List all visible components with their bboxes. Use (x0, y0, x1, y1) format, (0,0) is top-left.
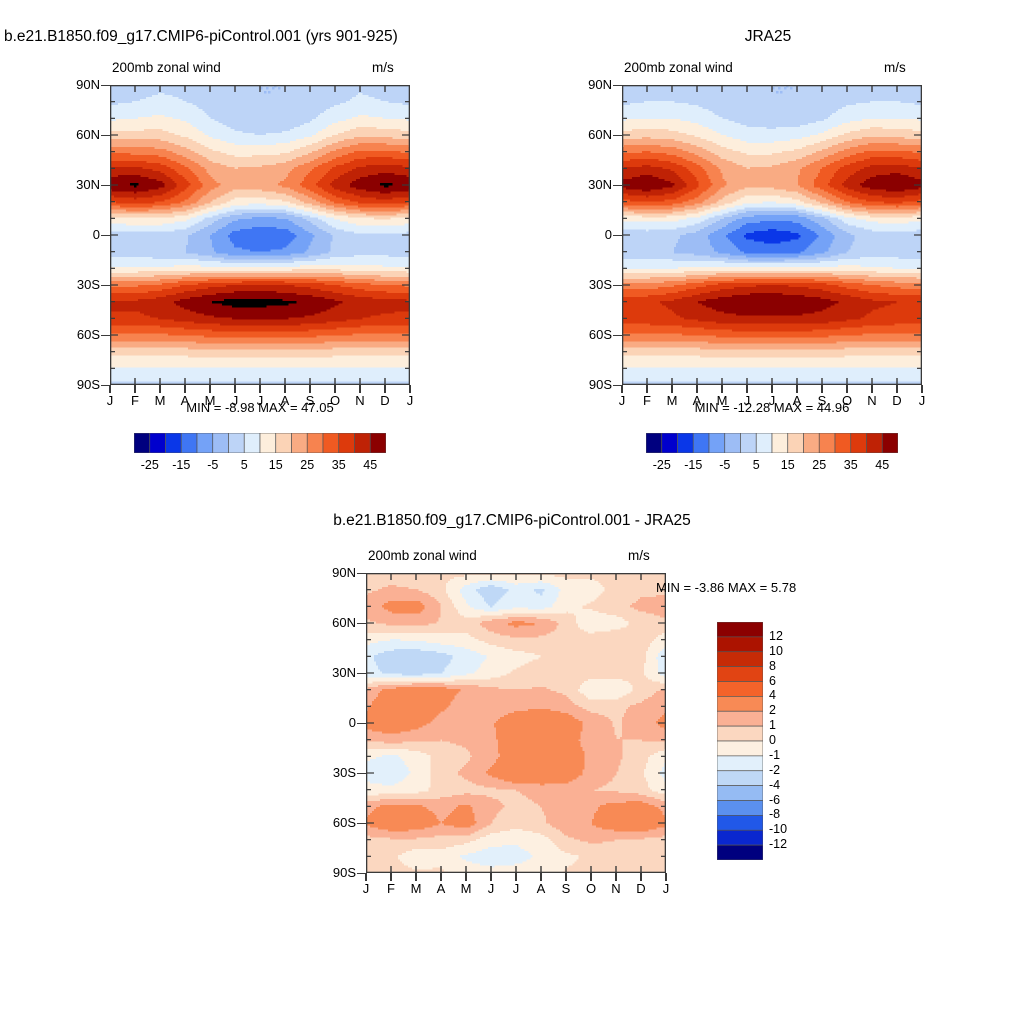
x-tick-mark (621, 385, 623, 393)
panel-model-units: m/s (372, 60, 394, 75)
panel-diff-subtitle: 200mb zonal wind (368, 548, 477, 563)
y-tick-mark (613, 285, 622, 287)
panel-model-subtitle: 200mb zonal wind (112, 60, 221, 75)
y-tick-mark (101, 235, 110, 237)
y-tick-mark (357, 723, 366, 725)
y-tick-label: 90S (304, 865, 356, 880)
y-tick-label: 0 (48, 227, 100, 242)
x-tick-mark (896, 385, 898, 393)
panel-diff-units: m/s (628, 548, 650, 563)
colorbar-tick-label: 1 (769, 718, 776, 732)
colorbar-tick-label: -12 (769, 837, 787, 851)
x-tick-label: J (354, 881, 378, 896)
x-tick-mark (359, 385, 361, 393)
x-tick-mark (309, 385, 311, 393)
y-tick-label: 0 (304, 715, 356, 730)
x-tick-mark (465, 873, 467, 881)
x-tick-mark (334, 385, 336, 393)
x-tick-label: D (629, 881, 653, 896)
y-tick-label: 30S (560, 277, 612, 292)
y-tick-label: 0 (560, 227, 612, 242)
colorbar-tick-label: -8 (769, 807, 780, 821)
x-tick-mark (590, 873, 592, 881)
x-tick-mark (671, 385, 673, 393)
panel-obs-subtitle: 200mb zonal wind (624, 60, 733, 75)
colorbar-tick-label: 12 (769, 629, 783, 643)
y-tick-label: 60N (48, 127, 100, 142)
y-tick-label: 90S (48, 377, 100, 392)
contour-plot-obs (622, 85, 922, 385)
y-tick-mark (613, 335, 622, 337)
panel-obs-stats: MIN = -12.28 MAX = 44.96 (622, 400, 922, 415)
panel-diff-stats: MIN = -3.86 MAX = 5.78 (656, 580, 896, 595)
x-tick-mark (771, 385, 773, 393)
colorbar-tick-label: -6 (769, 793, 780, 807)
colorbar-tick-label: 8 (769, 659, 776, 673)
x-tick-mark (921, 385, 923, 393)
y-tick-label: 90N (560, 77, 612, 92)
x-tick-label: S (554, 881, 578, 896)
colorbar-tick-label: 4 (769, 688, 776, 702)
x-tick-mark (640, 873, 642, 881)
x-tick-label: A (529, 881, 553, 896)
y-tick-mark (357, 673, 366, 675)
x-tick-mark (490, 873, 492, 881)
y-tick-label: 90S (560, 377, 612, 392)
colorbar-obs (646, 433, 898, 453)
y-tick-mark (101, 335, 110, 337)
y-tick-label: 30S (304, 765, 356, 780)
contour-plot-diff (366, 573, 666, 873)
panel-diff: b.e21.B1850.f09_g17.CMIP6-piControl.001 … (256, 500, 768, 920)
panel-obs-units: m/s (884, 60, 906, 75)
x-tick-mark (390, 873, 392, 881)
y-tick-mark (613, 135, 622, 137)
x-tick-mark (515, 873, 517, 881)
y-tick-label: 60S (48, 327, 100, 342)
x-tick-label: J (479, 881, 503, 896)
x-tick-label: O (579, 881, 603, 896)
x-tick-mark (696, 385, 698, 393)
x-tick-mark (615, 873, 617, 881)
colorbar-tick-label: 6 (769, 674, 776, 688)
y-tick-mark (357, 573, 366, 575)
x-tick-label: J (504, 881, 528, 896)
y-tick-label: 60N (560, 127, 612, 142)
colorbar-tick-label: 45 (350, 458, 390, 472)
panel-obs-title: JRA25 (512, 28, 1024, 46)
y-tick-mark (357, 623, 366, 625)
panel-model-stats: MIN = -8.98 MAX = 47.05 (110, 400, 410, 415)
y-tick-label: 90N (48, 77, 100, 92)
y-tick-label: 60S (304, 815, 356, 830)
x-tick-mark (365, 873, 367, 881)
panel-model: b.e21.B1850.f09_g17.CMIP6-piControl.001 … (0, 0, 512, 480)
y-tick-label: 90N (304, 565, 356, 580)
x-tick-label: A (429, 881, 453, 896)
x-tick-mark (665, 873, 667, 881)
y-tick-label: 60N (304, 615, 356, 630)
y-tick-label: 30S (48, 277, 100, 292)
y-tick-mark (613, 85, 622, 87)
x-tick-mark (821, 385, 823, 393)
x-tick-mark (721, 385, 723, 393)
y-tick-mark (101, 85, 110, 87)
x-tick-label: F (379, 881, 403, 896)
colorbar-tick-label: 10 (769, 644, 783, 658)
x-tick-label: M (454, 881, 478, 896)
panel-diff-title: b.e21.B1850.f09_g17.CMIP6-piControl.001 … (256, 512, 768, 530)
x-tick-mark (846, 385, 848, 393)
y-tick-mark (101, 135, 110, 137)
colorbar-diff (717, 622, 763, 860)
colorbar-tick-label: -4 (769, 778, 780, 792)
x-tick-mark (384, 385, 386, 393)
colorbar-tick-label: -10 (769, 822, 787, 836)
y-tick-mark (101, 285, 110, 287)
y-tick-mark (357, 773, 366, 775)
x-tick-mark (184, 385, 186, 393)
y-tick-label: 30N (560, 177, 612, 192)
x-tick-mark (440, 873, 442, 881)
y-tick-mark (101, 185, 110, 187)
x-tick-label: N (604, 881, 628, 896)
contour-plot-model (110, 85, 410, 385)
y-tick-label: 30N (304, 665, 356, 680)
x-tick-mark (871, 385, 873, 393)
panel-obs: JRA25 200mb zonal wind m/s 90N60N30N030S… (512, 0, 1024, 480)
x-tick-mark (259, 385, 261, 393)
x-tick-mark (565, 873, 567, 881)
x-tick-mark (159, 385, 161, 393)
y-tick-mark (613, 185, 622, 187)
colorbar-tick-label: -1 (769, 748, 780, 762)
x-tick-mark (646, 385, 648, 393)
y-tick-mark (357, 823, 366, 825)
colorbar-tick-label: -2 (769, 763, 780, 777)
colorbar-tick-label: 45 (862, 458, 902, 472)
x-tick-label: M (404, 881, 428, 896)
y-tick-label: 60S (560, 327, 612, 342)
y-tick-label: 30N (48, 177, 100, 192)
y-tick-mark (613, 235, 622, 237)
colorbar-tick-label: 2 (769, 703, 776, 717)
x-tick-mark (746, 385, 748, 393)
x-tick-mark (234, 385, 236, 393)
x-tick-mark (134, 385, 136, 393)
x-tick-mark (284, 385, 286, 393)
x-tick-label: J (654, 881, 678, 896)
x-tick-mark (796, 385, 798, 393)
x-tick-mark (415, 873, 417, 881)
panel-model-title: b.e21.B1850.f09_g17.CMIP6-piControl.001 … (0, 28, 516, 46)
colorbar-model (134, 433, 386, 453)
x-tick-mark (109, 385, 111, 393)
x-tick-mark (409, 385, 411, 393)
x-tick-mark (209, 385, 211, 393)
x-tick-mark (540, 873, 542, 881)
colorbar-tick-label: 0 (769, 733, 776, 747)
